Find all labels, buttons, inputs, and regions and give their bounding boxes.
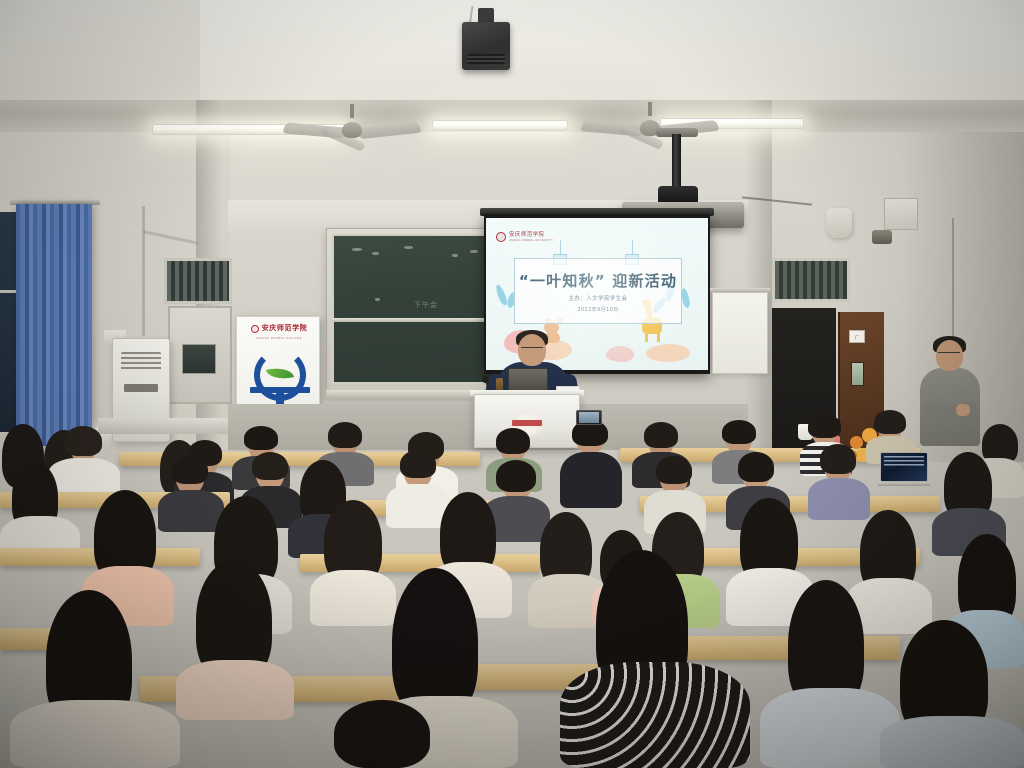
audience-person: [244, 426, 278, 450]
seal-icon: [496, 232, 506, 242]
blue-curtain[interactable]: [16, 204, 92, 446]
chalk-mark: [352, 248, 362, 251]
slide-university-logo: 安庆师范学院 ANQING NORMAL UNIVERSITY: [496, 232, 553, 242]
presenter-laptop-screen: [508, 368, 548, 392]
slide-logo-name: 安庆师范学院: [509, 232, 553, 239]
audience-person: [334, 700, 430, 768]
wall-lamp: [872, 230, 892, 244]
audience-person: [656, 456, 692, 484]
glasses-icon: [521, 347, 543, 352]
ceiling-fan: [282, 112, 422, 150]
ceiling-fan: [580, 110, 720, 148]
vent-bars: [167, 261, 229, 301]
chalk-mark: [470, 250, 478, 253]
blob-decoration: [606, 346, 634, 362]
audience-person: [880, 716, 1024, 768]
chalk-mark: [404, 246, 413, 249]
audience-person: [400, 450, 436, 478]
banner-org-name: 安庆师范学院: [262, 325, 308, 333]
audience-person: [722, 420, 756, 444]
audience-person: [328, 422, 362, 448]
blob-decoration: [646, 344, 690, 362]
audience-person: [496, 460, 536, 492]
projector-pole: [672, 134, 681, 192]
audience-person-floral-top: [560, 662, 750, 768]
slide-logo-subtitle: ANQING NORMAL UNIVERSITY: [509, 239, 553, 242]
giraffe-icon: [657, 333, 660, 342]
audience-person: [158, 490, 224, 532]
wall-pipe: [142, 206, 145, 336]
observer-hand: [956, 404, 970, 416]
slide-date-line: 2022年9月10日: [514, 306, 682, 313]
banner-header: 安庆师范学院: [237, 325, 321, 333]
blackboard-chalk-text: 下午会: [414, 300, 438, 310]
door-window: [851, 362, 864, 386]
phone-screen: [579, 412, 599, 423]
audience-person: [820, 444, 856, 474]
fluorescent-tube-light: [432, 120, 568, 131]
audience-person: [64, 426, 102, 456]
fan-hub: [342, 122, 362, 138]
audience-person: [496, 428, 530, 454]
fan-rod: [350, 104, 354, 118]
wall-electrical-box: [884, 198, 918, 230]
fan-rod: [648, 102, 652, 116]
ac-label: [124, 384, 158, 392]
door-sign: 厂: [849, 330, 865, 343]
audience-person: [310, 570, 396, 626]
slide-host-line: 主办：人文学院学生会: [514, 294, 682, 302]
slide-title-frame: [514, 258, 682, 324]
seal-icon: [251, 325, 259, 333]
transom-bars: [775, 261, 847, 299]
speaker-grill: [467, 54, 505, 64]
audience-person-filming: [560, 452, 622, 508]
wall-speaker-icon: [826, 208, 852, 238]
laptop-screen-text: [884, 456, 924, 468]
podium-emblem-bar: [512, 420, 542, 426]
glasses-icon: [938, 352, 960, 357]
audience-person: [172, 456, 208, 484]
audience-person: [10, 700, 180, 768]
front-left-desk: [98, 418, 232, 434]
desk-row: [660, 636, 900, 660]
audience-person: [808, 414, 841, 438]
fan-blade: [356, 122, 422, 139]
chalk-mark: [452, 254, 458, 257]
lecture-hall-photo: 下午会 安庆师范学院 ANQING NORMAL UNIVERSITY: [0, 0, 1024, 768]
audience-person: [760, 688, 900, 768]
cabinet-door[interactable]: [182, 344, 216, 374]
audience-person: [252, 452, 288, 480]
audience-person: [808, 478, 870, 520]
ac-vent-icon: [121, 352, 161, 372]
slide-title: “一叶知秋” 迎新活动: [514, 270, 682, 291]
giraffe-icon: [645, 333, 648, 342]
flower-icon: [850, 436, 863, 449]
right-corner-shadow: [744, 100, 772, 462]
blackboard-slide-rail: [332, 318, 506, 322]
chalk-mark: [375, 298, 380, 301]
audience-laptop[interactable]: [878, 452, 930, 486]
laptop-base: [878, 482, 930, 486]
audience-person: [644, 422, 678, 448]
audience-person: [874, 410, 906, 434]
wall-speaker-icon: [462, 22, 510, 70]
microphone-head: [482, 376, 489, 383]
audience-person: [176, 660, 294, 720]
banner-org-subtitle: ANQING NORMAL COLLEGE: [237, 337, 321, 340]
chalk-mark: [372, 252, 379, 255]
notice-board: [712, 292, 768, 374]
audience-person: [738, 452, 774, 482]
